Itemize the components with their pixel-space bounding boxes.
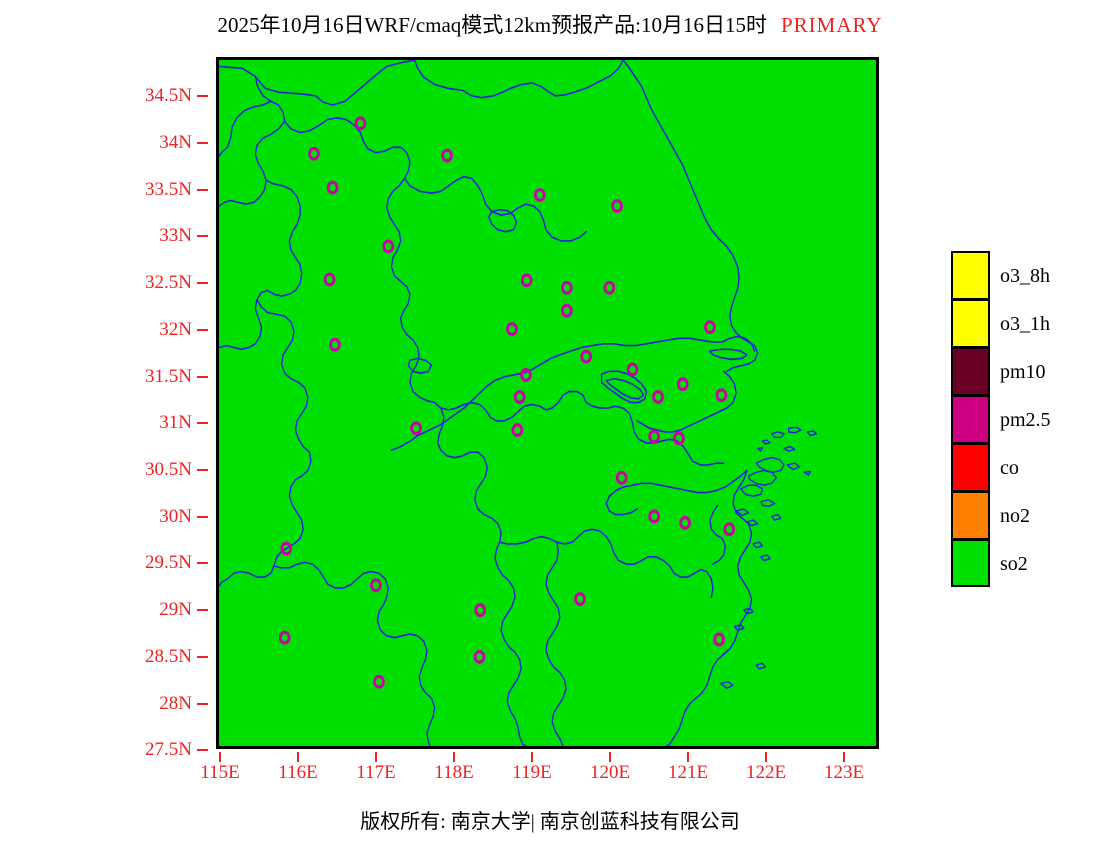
y-tick-mark	[197, 282, 208, 284]
copyright-footer: 版权所有: 南京大学| 南京创蓝科技有限公司	[0, 810, 1100, 834]
legend-label: pm10	[1000, 361, 1046, 383]
x-tick-label: 116E	[278, 763, 317, 782]
y-tick-mark	[197, 609, 208, 611]
map-svg	[219, 60, 876, 746]
y-tick-mark	[197, 95, 208, 97]
x-tick-label: 117E	[356, 763, 395, 782]
y-tick-mark	[197, 329, 208, 331]
y-tick-mark	[197, 189, 208, 191]
x-tick-mark	[765, 752, 767, 762]
x-tick-mark	[219, 752, 221, 762]
map-plot-area[interactable]	[216, 57, 879, 749]
y-tick-label: 33.5N	[145, 180, 192, 199]
x-tick-label: 123E	[824, 763, 864, 782]
x-tick-label: 118E	[434, 763, 473, 782]
y-tick-label: 34.5N	[145, 86, 192, 105]
y-tick-mark	[197, 562, 208, 564]
x-tick-mark	[453, 752, 455, 762]
y-tick-mark	[197, 703, 208, 705]
title-main-text: 2025年10月16日WRF/cmaq模式12km预报产品:10月16日15时	[217, 13, 767, 37]
y-tick-mark	[197, 422, 208, 424]
page-title: 2025年10月16日WRF/cmaq模式12km预报产品:10月16日15时P…	[0, 12, 1100, 38]
legend-swatch	[951, 347, 990, 395]
x-tick-label: 119E	[512, 763, 551, 782]
x-tick-label: 121E	[668, 763, 708, 782]
y-tick-label: 27.5N	[145, 740, 192, 759]
legend-swatch	[951, 491, 990, 539]
y-tick-mark	[197, 376, 208, 378]
legend-label: o3_8h	[1000, 265, 1050, 287]
legend-label: o3_1h	[1000, 313, 1050, 335]
y-tick-label: 32N	[159, 320, 192, 339]
y-tick-mark	[197, 142, 208, 144]
y-tick-label: 31.5N	[145, 367, 192, 386]
legend-label: so2	[1000, 553, 1028, 575]
x-tick-label: 120E	[590, 763, 630, 782]
y-tick-label: 29N	[159, 600, 192, 619]
x-tick-label: 115E	[200, 763, 239, 782]
x-tick-mark	[609, 752, 611, 762]
y-tick-label: 30N	[159, 507, 192, 526]
y-tick-label: 34N	[159, 133, 192, 152]
legend-swatch	[951, 251, 990, 299]
y-tick-mark	[197, 516, 208, 518]
y-tick-label: 30.5N	[145, 460, 192, 479]
y-tick-label: 31N	[159, 413, 192, 432]
y-tick-mark	[197, 749, 208, 751]
y-tick-mark	[197, 656, 208, 658]
legend-swatch	[951, 299, 990, 347]
legend-label: no2	[1000, 505, 1030, 527]
x-tick-mark	[843, 752, 845, 762]
y-tick-mark	[197, 469, 208, 471]
legend-swatch	[951, 443, 990, 491]
legend-label: co	[1000, 457, 1019, 479]
y-tick-mark	[197, 235, 208, 237]
x-tick-mark	[687, 752, 689, 762]
y-tick-label: 28.5N	[145, 647, 192, 666]
x-tick-mark	[297, 752, 299, 762]
y-tick-label: 32.5N	[145, 273, 192, 292]
x-tick-mark	[375, 752, 377, 762]
x-tick-label: 122E	[746, 763, 786, 782]
y-tick-label: 33N	[159, 226, 192, 245]
y-tick-label: 29.5N	[145, 553, 192, 572]
y-tick-label: 28N	[159, 694, 192, 713]
legend-label: pm2.5	[1000, 409, 1051, 431]
x-tick-mark	[531, 752, 533, 762]
title-primary-label: PRIMARY	[781, 13, 883, 37]
legend-swatch	[951, 539, 990, 587]
forecast-map-page: 2025年10月16日WRF/cmaq模式12km预报产品:10月16日15时P…	[0, 0, 1100, 850]
legend-swatch	[951, 395, 990, 443]
